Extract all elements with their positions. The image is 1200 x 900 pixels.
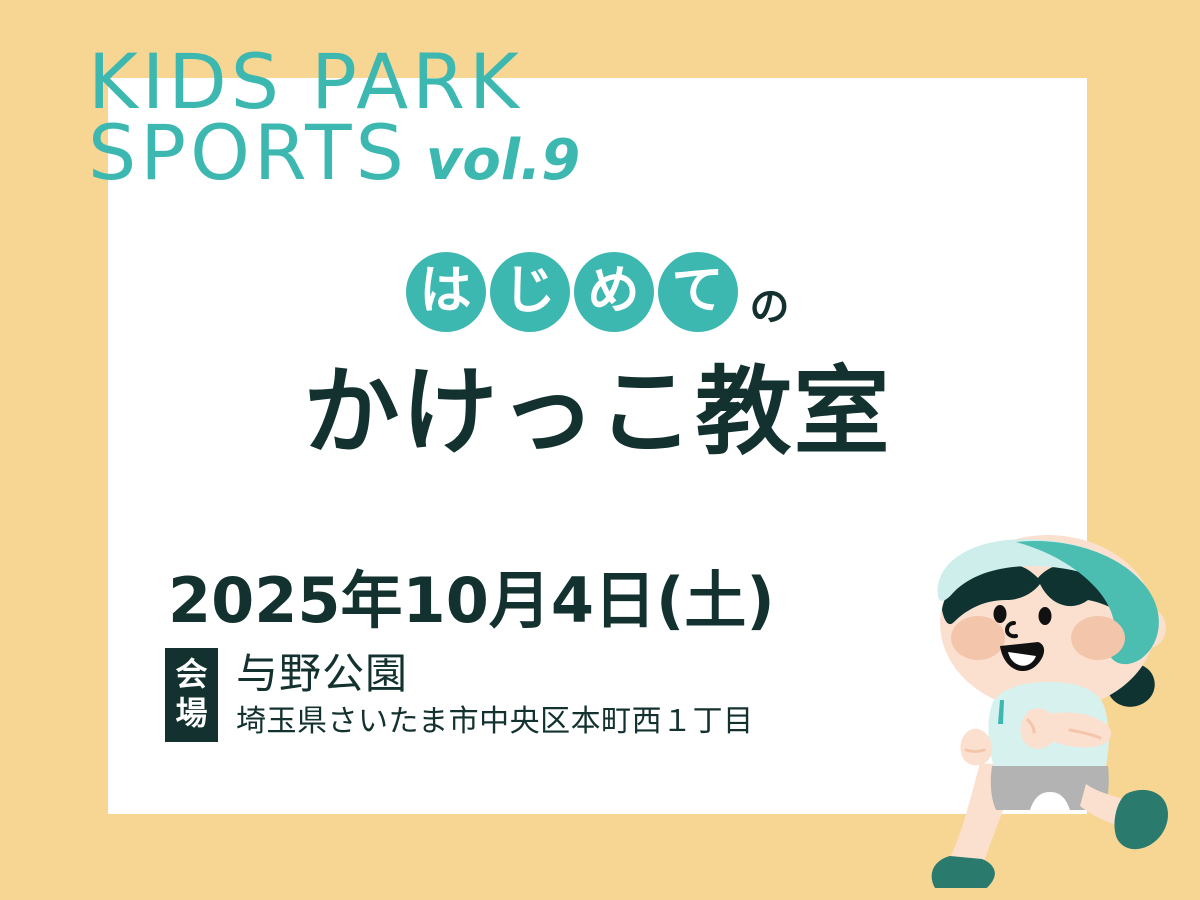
venue-badge-char-2: 場 <box>175 694 207 733</box>
page-title: かけっこ教室 <box>108 362 1087 463</box>
logo-line-sports: SPORTS <box>88 117 408 188</box>
subtitle-tail: の <box>750 252 790 332</box>
venue-block: 会 場 与野公園 埼玉県さいたま市中央区本町西１丁目 <box>165 648 754 742</box>
subtitle-pill-3: め <box>574 252 654 332</box>
subtitle-pill-group: は じ め て <box>406 252 738 332</box>
poster-root: KIDS PARK SPORTS vol.9 は じ め て の かけっこ教室 … <box>0 0 1200 900</box>
venue-text: 与野公園 埼玉県さいたま市中央区本町西１丁目 <box>236 648 754 742</box>
venue-address: 埼玉県さいたま市中央区本町西１丁目 <box>236 702 754 741</box>
logo-line-sports-row: SPORTS vol.9 <box>88 117 580 188</box>
running-child-icon <box>920 518 1200 888</box>
subtitle-pill-2: じ <box>490 252 570 332</box>
subtitle-pill-1: は <box>406 252 486 332</box>
venue-badge: 会 場 <box>165 648 218 742</box>
logo-line-kids-park: KIDS PARK <box>88 46 580 117</box>
running-child-illustration <box>920 518 1200 888</box>
subtitle-row: は じ め て の <box>108 252 1087 332</box>
event-logo: KIDS PARK SPORTS vol.9 <box>88 46 580 189</box>
venue-badge-char-1: 会 <box>175 655 207 694</box>
logo-volume: vol.9 <box>426 135 580 188</box>
venue-name: 与野公園 <box>236 649 754 699</box>
event-date: 2025年10月4日(土) <box>168 550 775 640</box>
subtitle-pill-4: て <box>658 252 738 332</box>
